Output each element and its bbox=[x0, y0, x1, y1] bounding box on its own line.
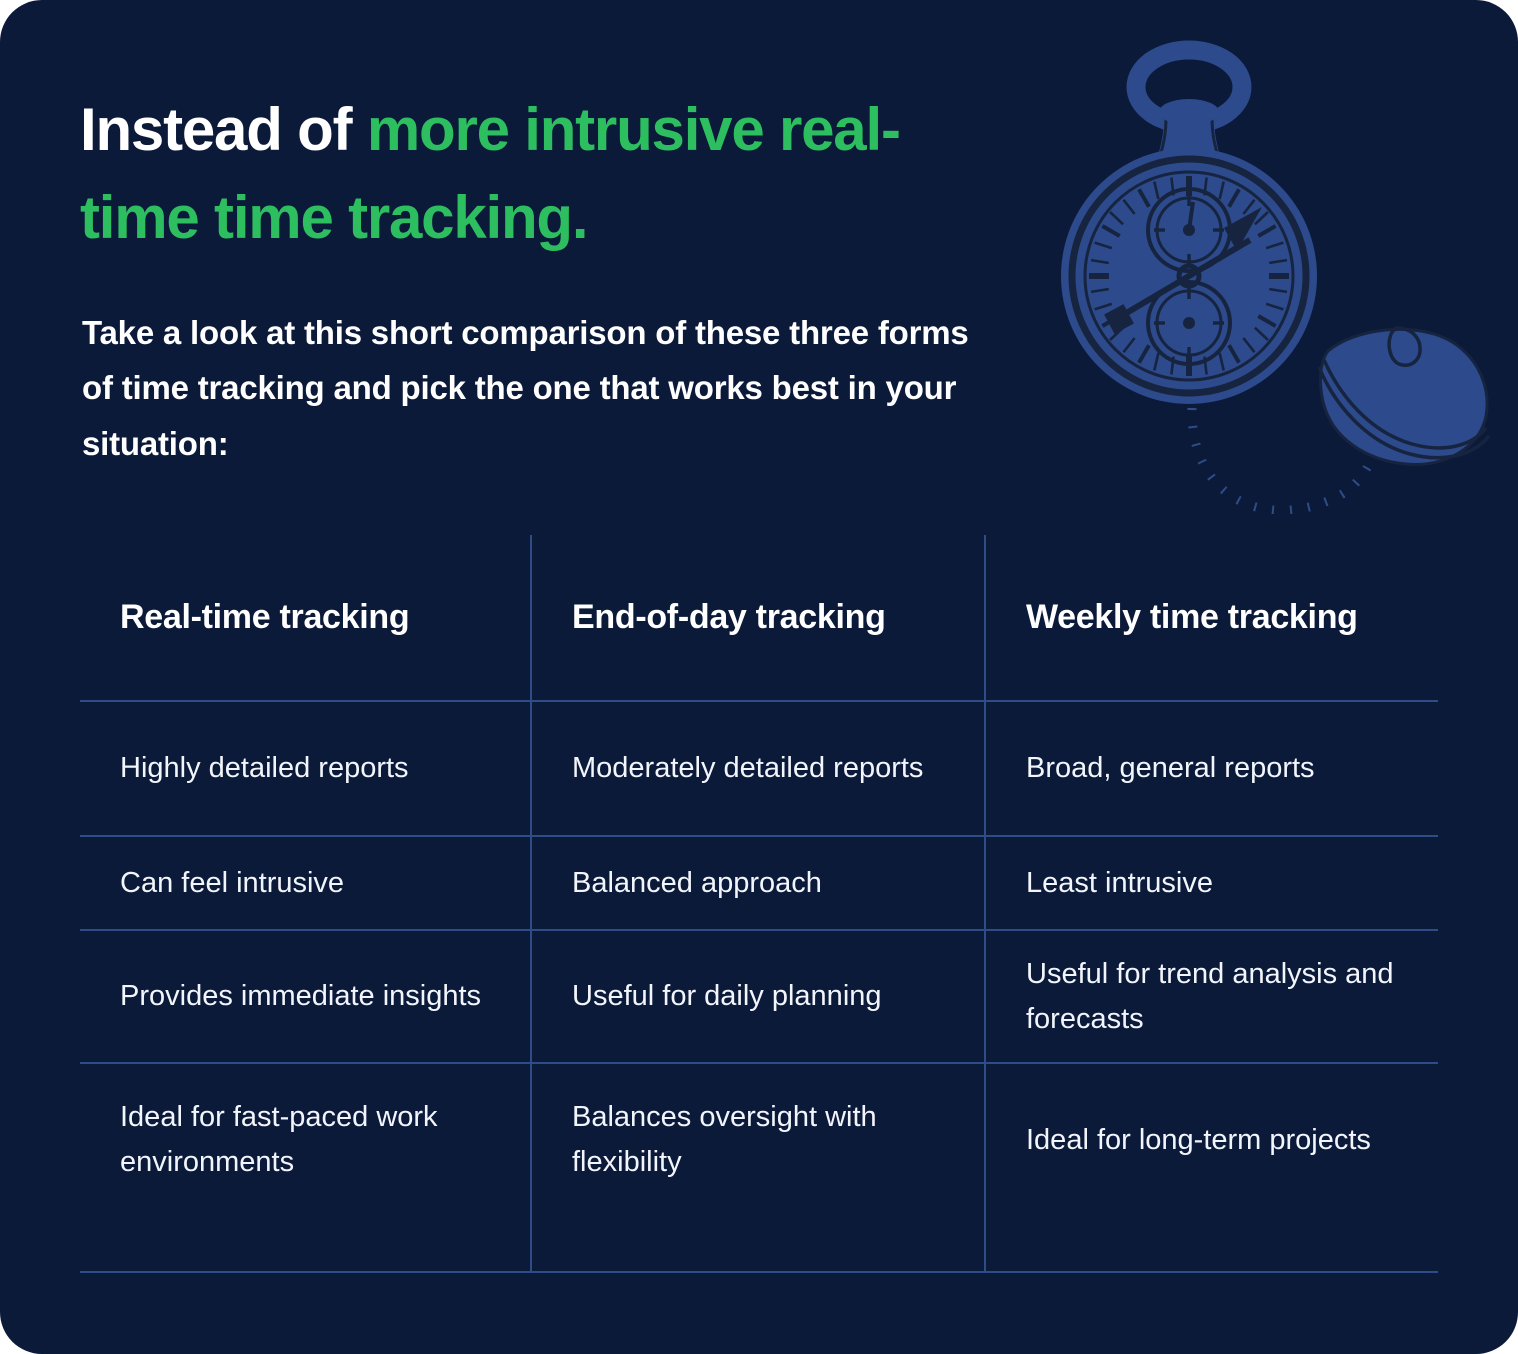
table-cell: Ideal for long-term projects bbox=[984, 1064, 1438, 1216]
cell-label: Useful for daily planning bbox=[572, 974, 882, 1019]
cell-label: Broad, general reports bbox=[1026, 746, 1315, 791]
table-row: Provides immediate insights Useful for d… bbox=[80, 931, 1438, 1062]
table-row: Ideal for fast-paced work environments B… bbox=[80, 1064, 1438, 1216]
infographic-card: Instead of more intrusive real-time time… bbox=[0, 0, 1518, 1354]
table-cell: Least intrusive bbox=[984, 837, 1438, 929]
table-cell: Useful for trend analysis and forecasts bbox=[984, 931, 1438, 1062]
table-cell: Provides immediate insights bbox=[80, 931, 530, 1062]
cell-label: Provides immediate insights bbox=[120, 974, 481, 1019]
cell-label: Ideal for fast-paced work environments bbox=[120, 1095, 500, 1185]
subheading: Take a look at this short comparison of … bbox=[82, 305, 972, 471]
cell-label: Balances oversight with flexibility bbox=[572, 1095, 954, 1185]
cell-label: Can feel intrusive bbox=[120, 861, 344, 906]
cell-label: Balanced approach bbox=[572, 861, 822, 906]
table-row: Highly detailed reports Moderately detai… bbox=[80, 702, 1438, 835]
page-title: Instead of more intrusive real-time time… bbox=[80, 86, 980, 261]
table-cell: Balanced approach bbox=[530, 837, 984, 929]
cell-label: Least intrusive bbox=[1026, 861, 1213, 906]
table-cell: Highly detailed reports bbox=[80, 702, 530, 835]
illustration bbox=[1040, 24, 1500, 514]
table-cell: Can feel intrusive bbox=[80, 837, 530, 929]
table-header-cell: Real-time tracking bbox=[80, 535, 530, 700]
row-divider-4 bbox=[80, 1271, 1438, 1273]
table-header-cell: End-of-day tracking bbox=[530, 535, 984, 700]
column-header-label: Weekly time tracking bbox=[1026, 593, 1358, 641]
cell-label: Highly detailed reports bbox=[120, 746, 409, 791]
table-cell: Broad, general reports bbox=[984, 702, 1438, 835]
table-cell: Useful for daily planning bbox=[530, 931, 984, 1062]
cell-label: Useful for trend analysis and forecasts bbox=[1026, 952, 1418, 1042]
table-header-cell: Weekly time tracking bbox=[984, 535, 1438, 700]
table-cell: Ideal for fast-paced work environments bbox=[80, 1064, 530, 1216]
table-header-row: Real-time tracking End-of-day tracking W… bbox=[80, 535, 1438, 700]
table-cell: Moderately detailed reports bbox=[530, 702, 984, 835]
column-header-label: Real-time tracking bbox=[120, 593, 409, 641]
table-cell: Balances oversight with flexibility bbox=[530, 1064, 984, 1216]
table-row: Can feel intrusive Balanced approach Lea… bbox=[80, 837, 1438, 929]
cell-label: Moderately detailed reports bbox=[572, 746, 923, 791]
stopwatch-icon bbox=[1061, 50, 1317, 404]
comparison-table: Real-time tracking End-of-day tracking W… bbox=[80, 535, 1438, 1273]
computer-mouse-icon bbox=[1319, 328, 1489, 465]
headline-plain: Instead of bbox=[80, 96, 367, 163]
column-header-label: End-of-day tracking bbox=[572, 593, 886, 641]
cell-label: Ideal for long-term projects bbox=[1026, 1118, 1371, 1163]
